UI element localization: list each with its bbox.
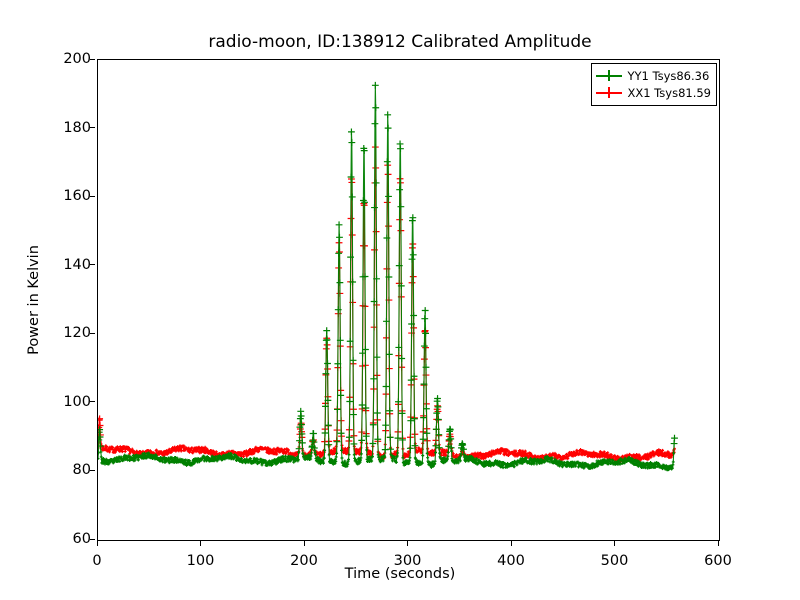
y-tick-mark — [90, 127, 95, 128]
y-axis-label: Power in Kelvin — [26, 245, 42, 355]
x-tick-mark — [718, 541, 719, 546]
legend-item-xx1[interactable]: XX1 Tsys81.59 — [596, 84, 711, 101]
y-tick-mark — [90, 264, 95, 265]
x-tick-mark — [407, 541, 408, 546]
legend-label-yy1: YY1 Tsys86.36 — [627, 69, 709, 83]
x-axis-label: Time (seconds) — [0, 566, 800, 582]
figure: radio-moon, ID:138912 Calibrated Amplitu… — [0, 0, 800, 600]
x-axis-tick-labels: 0100200300400500600 — [97, 547, 720, 567]
y-tick-mark — [90, 470, 95, 471]
y-tick-label: 180 — [63, 120, 91, 136]
legend-marker-yy1 — [596, 69, 622, 82]
plot-area: YY1 Tsys86.36 XX1 Tsys81.59 — [97, 59, 720, 541]
y-tick-mark — [90, 333, 95, 334]
y-tick-label: 100 — [63, 394, 91, 410]
x-tick-mark — [511, 541, 512, 546]
y-tick-mark — [90, 539, 95, 540]
x-tick-mark — [97, 541, 98, 546]
y-tick-mark — [90, 196, 95, 197]
y-axis-label-host: Power in Kelvin — [36, 59, 38, 541]
y-tick-label: 60 — [73, 531, 91, 547]
y-tick-mark — [90, 401, 95, 402]
x-tick-mark — [200, 541, 201, 546]
y-tick-label: 120 — [63, 325, 91, 341]
legend-marker-xx1 — [596, 86, 622, 99]
series-yy1 — [98, 82, 678, 471]
series-canvas — [98, 60, 719, 540]
y-tick-label: 160 — [63, 188, 91, 204]
x-tick-mark — [614, 541, 615, 546]
legend[interactable]: YY1 Tsys86.36 XX1 Tsys81.59 — [591, 63, 717, 106]
legend-item-yy1[interactable]: YY1 Tsys86.36 — [596, 67, 711, 84]
x-tick-mark — [304, 541, 305, 546]
y-tick-label: 200 — [63, 51, 91, 67]
y-tick-label: 140 — [63, 257, 91, 273]
data-series-svg — [98, 60, 719, 540]
y-tick-mark — [90, 59, 95, 60]
y-tick-label: 80 — [73, 462, 91, 478]
page-title: radio-moon, ID:138912 Calibrated Amplitu… — [0, 32, 800, 52]
legend-label-xx1: XX1 Tsys81.59 — [627, 86, 711, 100]
